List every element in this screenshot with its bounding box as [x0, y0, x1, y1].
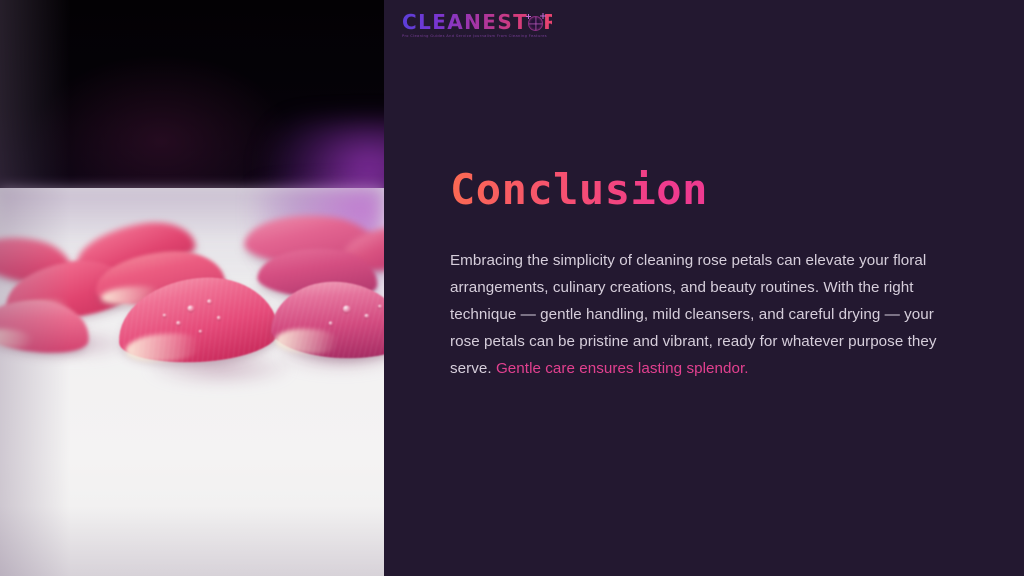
body-paragraph: Embracing the simplicity of cleaning ros…: [450, 247, 964, 382]
brand-logo-text-before-globe: CLEANEST: [402, 10, 528, 34]
brand-logo[interactable]: CLEANESTR Pro Cleaning Guides And Servic…: [402, 12, 552, 38]
slide-canvas: CLEANESTR Pro Cleaning Guides And Servic…: [0, 0, 1024, 576]
brand-tagline: Pro Cleaning Guides And Service Journali…: [402, 34, 552, 38]
globe-icon: [528, 16, 543, 31]
brand-logo-wordmark: CLEANESTR: [402, 12, 552, 32]
page-title: Conclusion: [450, 168, 708, 212]
body-paragraph-plain-text: Embracing the simplicity of cleaning ros…: [450, 252, 937, 377]
content-column: CLEANESTR Pro Cleaning Guides And Servic…: [384, 0, 1024, 576]
body-paragraph-highlight-text: Gentle care ensures lasting splendor.: [496, 360, 749, 377]
hero-photo-rose-petals: [0, 0, 384, 576]
